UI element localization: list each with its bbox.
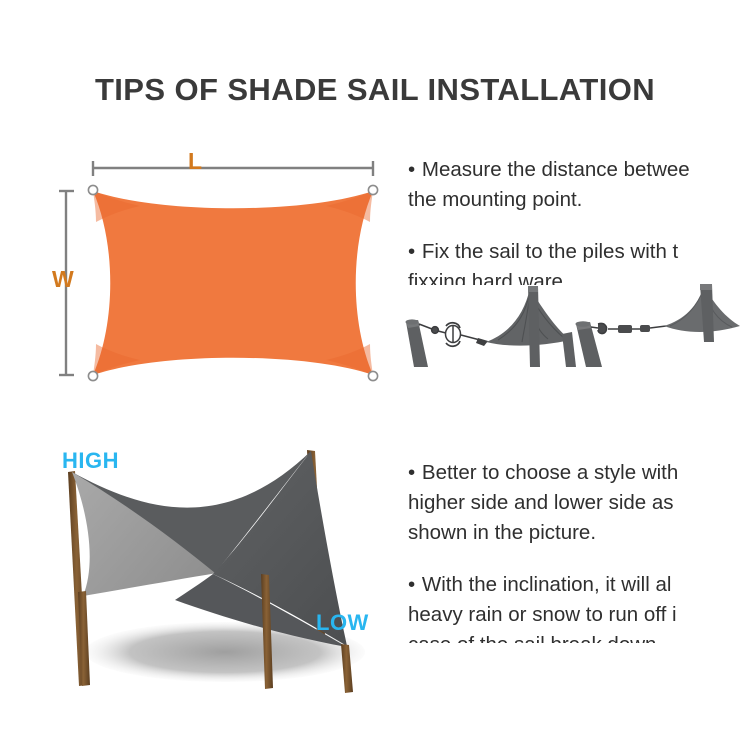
tip-line: shown in the picture. — [408, 518, 750, 548]
rectangular-sail-svg — [40, 140, 400, 410]
turnbuckle-hardware — [419, 323, 480, 346]
sail-shape — [93, 191, 373, 375]
tip-line: • Better to choose a style with — [408, 458, 750, 488]
width-dimension-label: W — [52, 268, 74, 291]
bullet-icon: • — [408, 573, 416, 596]
tip-paragraph: • Measure the distance betwee the mounti… — [408, 155, 750, 215]
low-side-label: LOW — [316, 612, 369, 634]
tips-top-text-block: • Measure the distance betwee the mounti… — [408, 155, 750, 285]
tip-line: • Measure the distance betwee — [408, 155, 750, 185]
grommet-top-left — [88, 185, 97, 194]
tip-line: • With the inclination, it will al — [408, 570, 750, 600]
tip-text: Fix the sail to the piles with t — [422, 240, 678, 263]
length-dimension-label: L — [188, 150, 202, 173]
length-dimension-line — [92, 161, 374, 176]
tip-text: Measure the distance betwee — [422, 158, 690, 181]
tip-paragraph: • Fix the sail to the piles with t fixxi… — [408, 237, 750, 285]
tip-line: higher side and lower side as — [408, 488, 750, 518]
hardware-right-svg — [562, 282, 750, 367]
hardware-illustration-right — [562, 282, 750, 367]
tip-paragraph: • With the inclination, it will al heavy… — [408, 570, 750, 643]
tip-line: heavy rain or snow to run off i — [408, 600, 750, 630]
bullet-icon: • — [408, 158, 416, 181]
mounting-post-behind — [700, 284, 714, 342]
hardware-left-svg — [398, 282, 578, 367]
tip-text: Better to choose a style with — [422, 461, 678, 484]
bullet-icon: • — [408, 240, 416, 263]
tip-line: the mounting point. — [408, 185, 750, 215]
tip-line: case of the sail break down. — [408, 630, 750, 643]
grommet-bottom-right — [368, 371, 377, 380]
high-side-label: HIGH — [62, 450, 119, 472]
tip-line: • Fix the sail to the piles with t — [408, 237, 750, 267]
sail-corner-panel — [486, 288, 570, 346]
infographic-page: TIPS OF SHADE SAIL INSTALLATION — [0, 0, 750, 750]
page-title: TIPS OF SHADE SAIL INSTALLATION — [0, 72, 750, 108]
tip-paragraph: • Better to choose a style with higher s… — [408, 458, 750, 548]
inclined-canopy-diagram — [35, 440, 410, 695]
tip-text: With the inclination, it will al — [422, 573, 672, 596]
canopy-svg — [35, 440, 410, 695]
cable-hardware — [591, 323, 666, 333]
tips-bottom-text-block: • Better to choose a style with higher s… — [408, 458, 750, 643]
mounting-post-right — [528, 286, 540, 367]
bullet-icon: • — [408, 461, 416, 484]
grommet-bottom-left — [88, 371, 97, 380]
grommet-top-right — [368, 185, 377, 194]
rectangular-sail-diagram — [40, 140, 400, 410]
hardware-illustration-left — [398, 282, 578, 367]
